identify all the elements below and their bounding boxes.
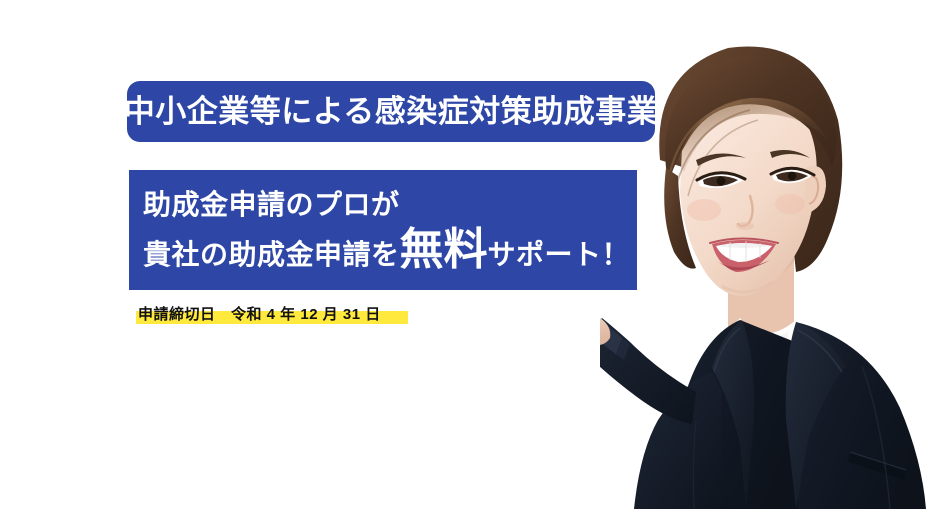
message-banner: 助成金申請のプロが 貴社の助成金申請を 無料 サポート！ [129, 170, 637, 290]
free-emphasis-text: 無料 [400, 228, 488, 272]
promotional-banner: 中小企業等による感染症対策助成事業 助成金申請のプロが 貴社の助成金申請を 無料… [0, 0, 940, 509]
message-line-1: 助成金申請のプロが [143, 182, 637, 228]
headline-banner: 中小企業等による感染症対策助成事業 [127, 81, 655, 142]
deadline-text: 申請締切日 令和 4 年 12 月 31 日 [138, 303, 381, 324]
deadline-row: 申請締切日 令和 4 年 12 月 31 日 [138, 300, 381, 324]
businesswoman-photo [600, 0, 940, 509]
message-line-2-prefix: 貴社の助成金申請を [143, 229, 400, 281]
message-line-2-suffix: サポート！ [488, 229, 631, 281]
headline-text: 中小企業等による感染症対策助成事業 [124, 96, 659, 127]
message-line-2: 貴社の助成金申請を 無料 サポート！ [143, 228, 637, 281]
